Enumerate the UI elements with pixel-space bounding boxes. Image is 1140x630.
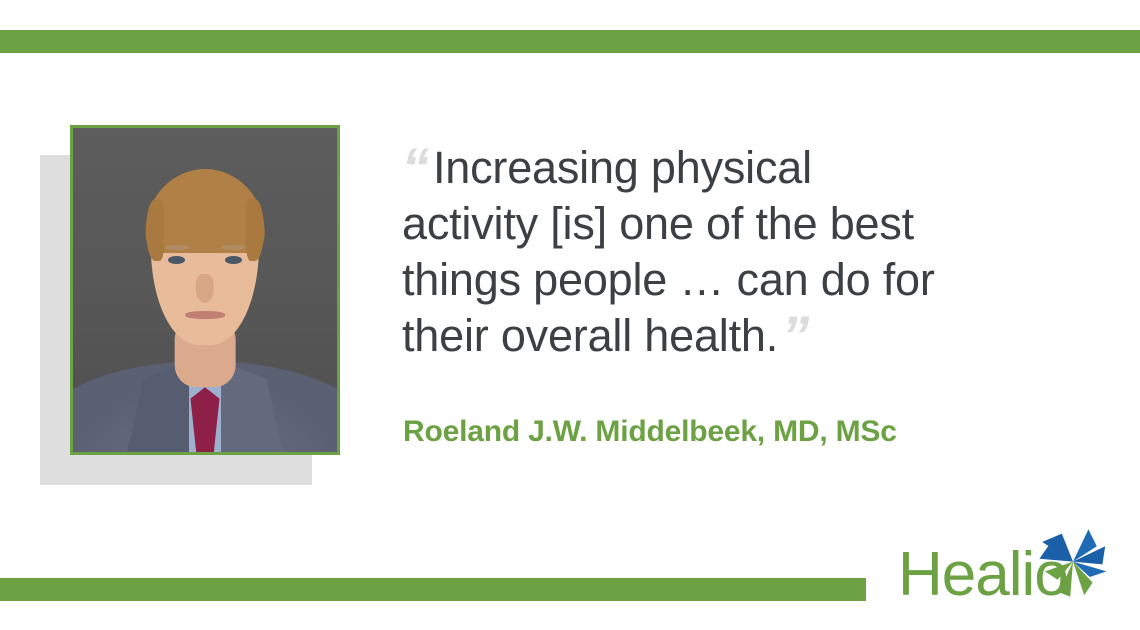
healio-logo[interactable]: Healio — [898, 528, 1110, 602]
quote-line-3: things people … can do for — [402, 254, 935, 305]
quote-block: “Increasing physicalactivity [is] one of… — [402, 140, 1022, 364]
portrait-eyebrow-left — [165, 245, 189, 250]
portrait-eyebrow-right — [221, 245, 245, 250]
four-point-star-icon — [1036, 528, 1110, 598]
quote-line-1: Increasing physical — [433, 142, 812, 193]
top-brand-rule — [0, 30, 1140, 53]
attribution-name: Roeland J.W. Middelbeek, MD, MSc — [403, 415, 897, 449]
portrait-hair-left — [146, 199, 164, 261]
quote-line-2: activity [is] one of the best — [402, 198, 914, 249]
bottom-brand-rule — [0, 578, 866, 601]
quote-line-4: their overall health. — [402, 310, 778, 361]
quote-card: “Increasing physicalactivity [is] one of… — [0, 0, 1140, 630]
portrait-mouth — [185, 311, 225, 319]
quote-text: “Increasing physicalactivity [is] one of… — [402, 140, 1022, 364]
portrait-block — [40, 125, 340, 485]
portrait-photo — [70, 125, 340, 455]
